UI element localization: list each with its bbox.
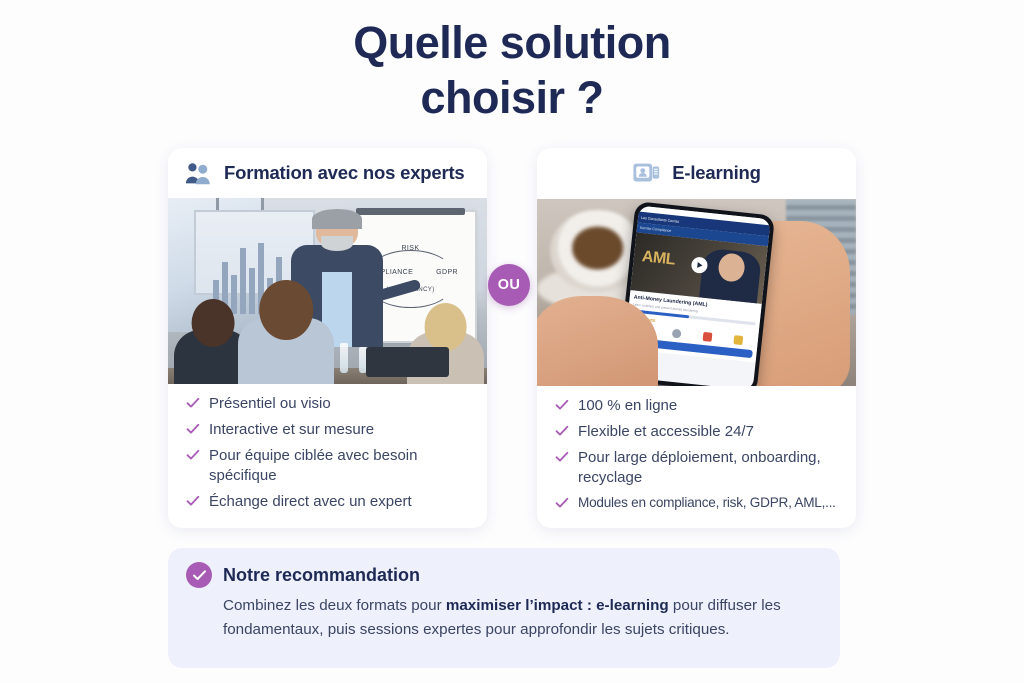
card-elearning-title: E-learning	[672, 162, 760, 184]
attendee-figure	[238, 280, 334, 384]
card-elearning[interactable]: E-learning Les Consultants Corriso Korri…	[537, 148, 856, 528]
options-cards-row: Formation avec nos experts RISK COMPLIAN…	[168, 148, 856, 528]
recommendation-title: Notre recommandation	[223, 565, 420, 586]
bullet-text: Pour large déploiement, onboarding, recy…	[578, 448, 842, 488]
list-item: Pour large déploiement, onboarding, recy…	[555, 448, 842, 488]
flipchart-label-gdpr: GDPR	[436, 269, 458, 276]
check-icon	[186, 397, 200, 409]
card-formation-bullets: Présentiel ou visio Interactive et sur m…	[168, 384, 487, 528]
card-elearning-bullets: 100 % en ligne Flexible et accessible 24…	[537, 386, 856, 528]
recommendation-box: Notre recommandation Combinez les deux f…	[168, 548, 840, 668]
list-item: Présentiel ou visio	[186, 394, 473, 414]
check-icon	[555, 425, 569, 437]
fingers	[537, 296, 658, 386]
check-icon	[186, 449, 200, 461]
bullet-text: Flexible et accessible 24/7	[578, 422, 754, 442]
page-title: Quelle solution choisir ?	[0, 0, 1024, 126]
phone-hero-label: AML	[641, 248, 676, 269]
check-icon	[186, 423, 200, 435]
phone-icon-alert	[703, 332, 713, 342]
recommendation-header: Notre recommandation	[186, 562, 818, 588]
or-divider-badge: OU	[488, 264, 530, 306]
phone-section-bar: Korriso Compliance	[640, 226, 672, 233]
or-divider-label: OU	[498, 277, 521, 293]
phone-icon-documents	[734, 335, 744, 345]
bullet-text: Pour équipe ciblée avec besoin spécifiqu…	[209, 446, 473, 486]
list-item: Modules en compliance, risk, GDPR, AML,.…	[555, 494, 842, 512]
phone-app-bar-title: Les Consultants Corriso	[641, 215, 680, 223]
card-formation-image: RISK COMPLIANCE GDPR (COMPLIANCY)	[168, 198, 487, 384]
card-formation-title: Formation avec nos experts	[224, 162, 465, 184]
bullet-text: 100 % en ligne	[578, 396, 677, 416]
page-title-line-1: Quelle solution	[353, 17, 671, 68]
page-title-line-2: choisir ?	[0, 71, 1024, 126]
recommendation-body-part1: Combinez les deux formats pour	[223, 597, 446, 614]
list-item: Interactive et sur mesure	[186, 420, 473, 440]
bullet-text: Modules en compliance, risk, GDPR, AML,.…	[578, 494, 836, 512]
users-icon	[184, 160, 214, 186]
list-item: Échange direct avec un expert	[186, 492, 473, 512]
phone-icon-quiz	[672, 329, 682, 339]
laptop	[366, 347, 449, 377]
bullet-text: Échange direct avec un expert	[209, 492, 412, 512]
list-item: Pour équipe ciblée avec besoin spécifiqu…	[186, 446, 473, 486]
card-formation[interactable]: Formation avec nos experts RISK COMPLIAN…	[168, 148, 487, 528]
recommendation-body: Combinez les deux formats pour maximiser…	[186, 594, 818, 641]
check-circle-icon	[186, 562, 212, 588]
bullet-text: Interactive et sur mesure	[209, 420, 374, 440]
check-icon	[555, 497, 569, 509]
check-icon	[555, 451, 569, 463]
card-elearning-image: Les Consultants Corriso Korriso Complian…	[537, 199, 856, 386]
check-icon	[555, 399, 569, 411]
list-item: 100 % en ligne	[555, 396, 842, 416]
device-learning-icon	[632, 160, 662, 186]
card-formation-header: Formation avec nos experts	[168, 148, 487, 198]
list-item: Flexible et accessible 24/7	[555, 422, 842, 442]
card-elearning-header: E-learning	[537, 148, 856, 199]
recommendation-body-bold: maximiser l’impact : e-learning	[446, 597, 669, 614]
bullet-text: Présentiel ou visio	[209, 394, 331, 414]
check-icon	[186, 495, 200, 507]
